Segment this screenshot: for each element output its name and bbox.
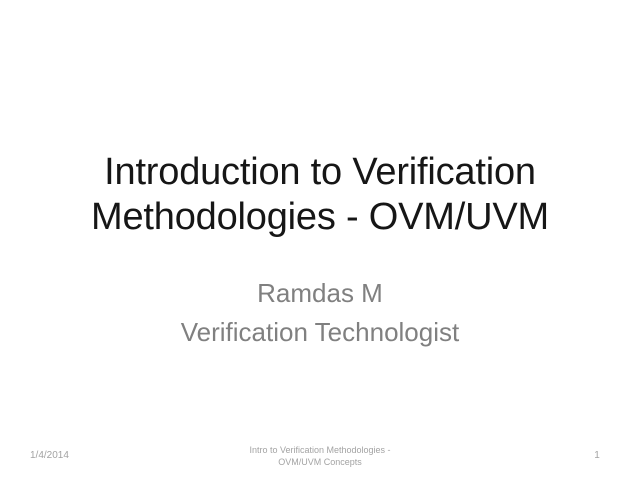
slide-footer: 1/4/2014 Intro to Verification Methodolo… bbox=[0, 440, 640, 480]
footer-deck-title-line-2: OVM/UVM Concepts bbox=[205, 456, 435, 468]
slide-title: Introduction to Verification Methodologi… bbox=[40, 150, 600, 240]
footer-deck-title-line-1: Intro to Verification Methodologies - bbox=[205, 444, 435, 456]
slide-subtitle-role: Verification Technologist bbox=[40, 313, 600, 352]
footer-date: 1/4/2014 bbox=[30, 450, 140, 462]
slide-title-line-1: Introduction to Verification bbox=[40, 150, 600, 195]
slide-subtitle-author: Ramdas M bbox=[40, 274, 600, 313]
slide-title-line-2: Methodologies - OVM/UVM bbox=[40, 195, 600, 240]
slide-canvas: Introduction to Verification Methodologi… bbox=[0, 0, 640, 480]
footer-page-number: 1 bbox=[560, 450, 634, 462]
slide-subtitle: Ramdas M Verification Technologist bbox=[40, 274, 600, 352]
footer-deck-title: Intro to Verification Methodologies - OV… bbox=[205, 444, 435, 468]
